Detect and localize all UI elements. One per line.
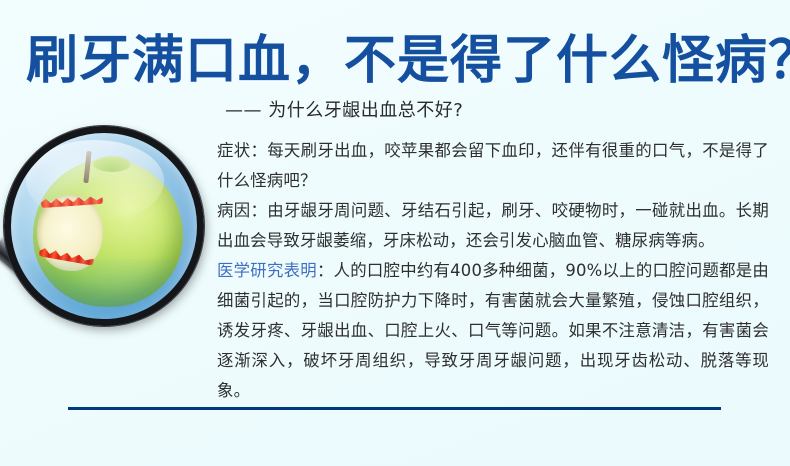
page-subtitle: —— 为什么牙龈出血总不好? <box>225 99 463 123</box>
paragraph-research: 医学研究表明：人的口腔中约有400多种细菌，90%以上的口腔问题都是由细菌引起的… <box>217 256 769 406</box>
paragraph-cause: 病因：由牙龈牙周问题、牙结石引起，刷牙、咬硬物时，一碰就出血。长期出血会导致牙龈… <box>217 196 769 256</box>
bottom-divider <box>68 407 721 410</box>
apple-dimple <box>93 156 131 172</box>
paragraph-symptoms: 症状：每天刷牙出血，咬苹果都会留下血印，还伴有很重的口气，不是得了什么怪病吧？ <box>217 136 769 196</box>
research-body-text: ：人的口腔中约有400多种细菌，90%以上的口腔问题都是由细菌引起的，当口腔防护… <box>217 261 769 400</box>
page-title: 刷牙满口血，不是得了什么怪病？ <box>26 32 766 90</box>
poster-root: 刷牙满口血，不是得了什么怪病？ —— 为什么牙龈出血总不好? 症状：每天刷牙出血… <box>0 0 790 466</box>
article-body: 症状：每天刷牙出血，咬苹果都会留下血印，还伴有很重的口气，不是得了什么怪病吧？ … <box>217 136 769 406</box>
magnifier-illustration <box>4 126 210 332</box>
magnifier-lens <box>4 126 204 326</box>
research-lead-label: 医学研究表明 <box>217 261 317 280</box>
